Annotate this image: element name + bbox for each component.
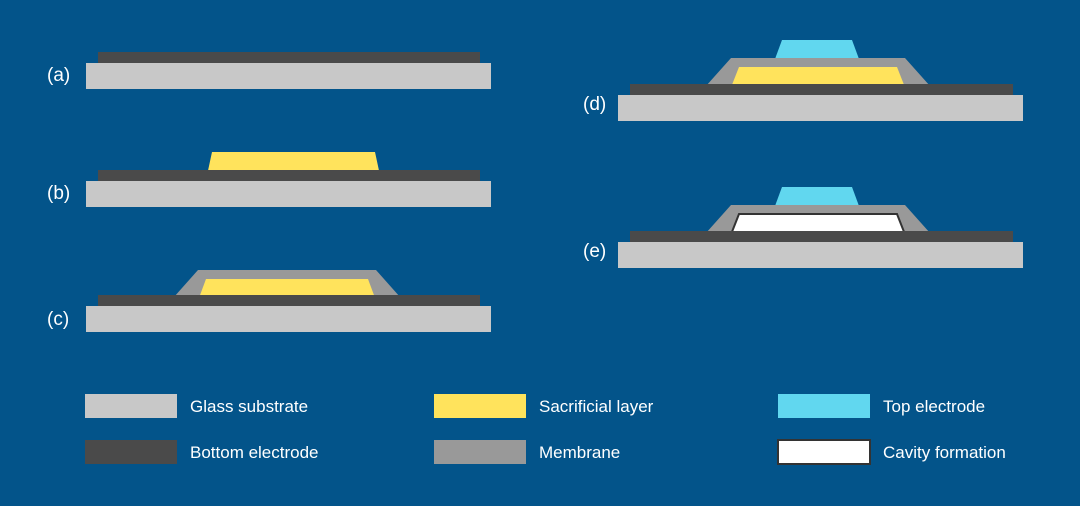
panel-c-label: (c) <box>47 309 69 330</box>
panel-c-bottom-electrode <box>98 295 480 306</box>
legend-swatch-top-electrode <box>778 394 870 418</box>
panel-d-label: (d) <box>583 94 606 115</box>
panel-e-label: (e) <box>583 241 606 262</box>
panel-a-label: (a) <box>47 65 70 86</box>
panel-e-top-electrode <box>775 187 859 206</box>
legend-swatch-bottom-electrode <box>85 440 177 464</box>
panel-e-bottom-electrode <box>630 231 1013 242</box>
panel-d-bottom-electrode <box>630 84 1013 95</box>
panel-d-top-electrode <box>775 40 859 59</box>
legend-item-cavity-formation: Cavity formation <box>778 440 1006 464</box>
panel-b-glass-substrate <box>86 181 491 207</box>
legend-item-glass-substrate: Glass substrate <box>85 394 308 418</box>
panel-b-label: (b) <box>47 183 70 204</box>
legend-swatch-glass-substrate <box>85 394 177 418</box>
legend-label-cavity-formation: Cavity formation <box>883 443 1006 462</box>
panel-c-glass-substrate <box>86 306 491 332</box>
process-flow-diagram: (a) (b) (c) (d) (e) <box>0 0 1080 506</box>
legend-swatch-membrane <box>434 440 526 464</box>
legend-swatch-sacrificial-layer <box>434 394 526 418</box>
legend-label-top-electrode: Top electrode <box>883 397 985 416</box>
panel-a: (a) <box>47 52 491 89</box>
panel-e-glass-substrate <box>618 242 1023 268</box>
legend-item-sacrificial-layer: Sacrificial layer <box>434 394 654 418</box>
legend-label-sacrificial-layer: Sacrificial layer <box>539 397 654 416</box>
legend-item-bottom-electrode: Bottom electrode <box>85 440 319 464</box>
legend-label-glass-substrate: Glass substrate <box>190 397 308 416</box>
panel-d-glass-substrate <box>618 95 1023 121</box>
panel-a-glass-substrate <box>86 63 491 89</box>
legend-label-membrane: Membrane <box>539 443 620 462</box>
panel-a-bottom-electrode <box>98 52 480 63</box>
legend-label-bottom-electrode: Bottom electrode <box>190 443 319 462</box>
legend-swatch-cavity-formation <box>778 440 870 464</box>
panel-b-bottom-electrode <box>98 170 480 181</box>
